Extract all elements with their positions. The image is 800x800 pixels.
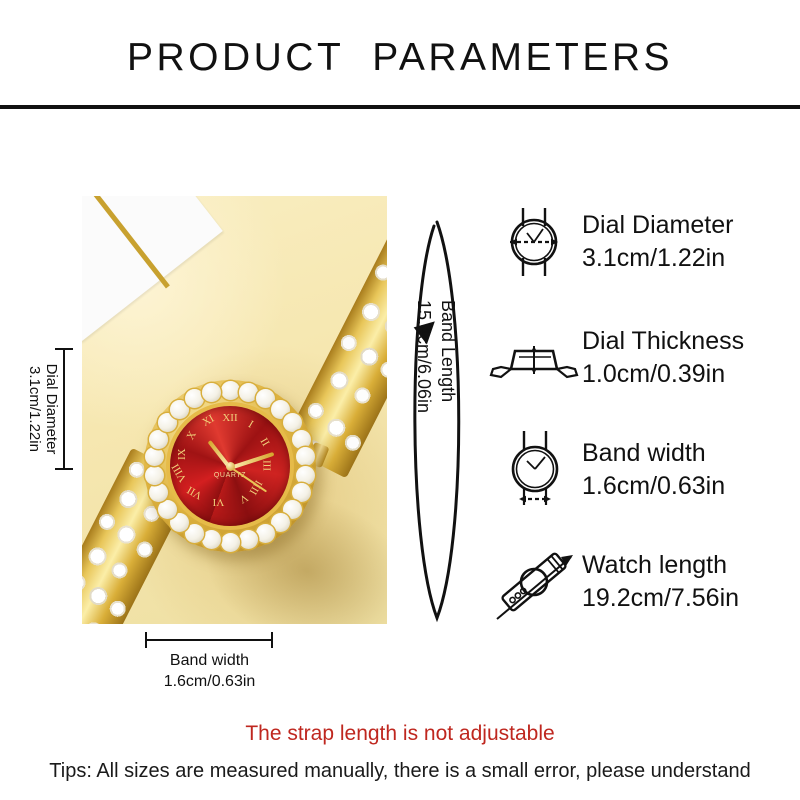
dial-numeral: I xyxy=(246,418,255,430)
spec-value-dial-thickness: 1.0cm/0.39in xyxy=(582,358,744,391)
band-width-label-text: Band width xyxy=(112,650,307,671)
watch-length-icon xyxy=(486,539,582,625)
band-length-label-text: Band Length xyxy=(436,300,460,540)
spec-text-dial-thickness: Dial Thickness 1.0cm/0.39in xyxy=(582,325,744,391)
dial-numeral: VII xyxy=(185,484,204,502)
dial-numeral: II xyxy=(258,436,272,448)
dial-diameter-label-text: Dial Diameter xyxy=(43,343,60,475)
strap-warning-note: The strap length is not adjustable xyxy=(0,722,800,746)
spec-label-dial-thickness: Dial Thickness xyxy=(582,325,744,358)
dial-numeral: IX xyxy=(176,448,188,460)
spec-text-band-width: Band width 1.6cm/0.63in xyxy=(582,437,725,503)
dial-diameter-dimension-line xyxy=(63,348,65,470)
measurement-tips-note: Tips: All sizes are measured manually, t… xyxy=(0,760,800,783)
dial-numeral: III xyxy=(261,460,273,471)
dial-numeral: XI xyxy=(200,413,216,429)
watch-dial-diameter-icon xyxy=(486,202,582,282)
band-length-label-value: 15.4cm/6.06in xyxy=(412,300,436,540)
spec-value-dial-diameter: 3.1cm/1.22in xyxy=(582,242,733,275)
dial-numeral: V xyxy=(237,491,250,505)
band-width-dimension-label: Band width 1.6cm/0.63in xyxy=(112,650,307,692)
spec-value-watch-length: 19.2cm/7.56in xyxy=(582,582,739,615)
product-parameters-page: PRODUCT PARAMETERS XIIIIIIIIIIIIVVIVIIVI… xyxy=(0,0,800,800)
watch-case: XIIIIIIIIIIIIVVIVIIVIIIIXXXI QUARTZ xyxy=(144,380,316,552)
dial-brand-label: QUARTZ xyxy=(170,472,290,479)
dial-numeral: XII xyxy=(222,412,237,424)
spec-text-watch-length: Watch length 19.2cm/7.56in xyxy=(582,549,739,615)
dial-diameter-label-value: 3.1cm/1.22in xyxy=(26,343,43,475)
dial-numeral: X xyxy=(184,429,198,442)
product-photo: XIIIIIIIIIIIIVVIVIIVIIIIXXXI QUARTZ xyxy=(82,196,387,624)
band-width-label-value: 1.6cm/0.63in xyxy=(112,671,307,692)
band-length-label: Band Length 15.4cm/6.06in xyxy=(412,300,460,540)
dial-numeral: VI xyxy=(213,496,225,508)
page-title: PRODUCT PARAMETERS xyxy=(0,36,800,80)
hands-center-cap xyxy=(226,462,235,471)
dial-diameter-dimension-label: Dial Diameter 3.1cm/1.22in xyxy=(26,343,60,475)
spec-row-watch-length: Watch length 19.2cm/7.56in xyxy=(486,536,800,628)
spec-label-band-width: Band width xyxy=(582,437,725,470)
spec-label-dial-diameter: Dial Diameter xyxy=(582,209,733,242)
spec-text-dial-diameter: Dial Diameter 3.1cm/1.22in xyxy=(582,209,733,275)
spec-row-dial-diameter: Dial Diameter 3.1cm/1.22in xyxy=(486,196,800,288)
spec-value-band-width: 1.6cm/0.63in xyxy=(582,470,725,503)
watch-case-thickness-icon xyxy=(486,327,582,389)
spec-row-band-width: Band width 1.6cm/0.63in xyxy=(486,424,800,516)
spec-row-dial-thickness: Dial Thickness 1.0cm/0.39in xyxy=(486,312,800,404)
watch-dial: XIIIIIIIIIIIIVVIVIIVIIIIXXXI QUARTZ xyxy=(170,406,290,526)
spec-label-watch-length: Watch length xyxy=(582,549,739,582)
title-divider xyxy=(0,105,800,109)
band-width-dimension-line xyxy=(145,639,273,641)
watch-band-width-icon xyxy=(486,427,582,513)
